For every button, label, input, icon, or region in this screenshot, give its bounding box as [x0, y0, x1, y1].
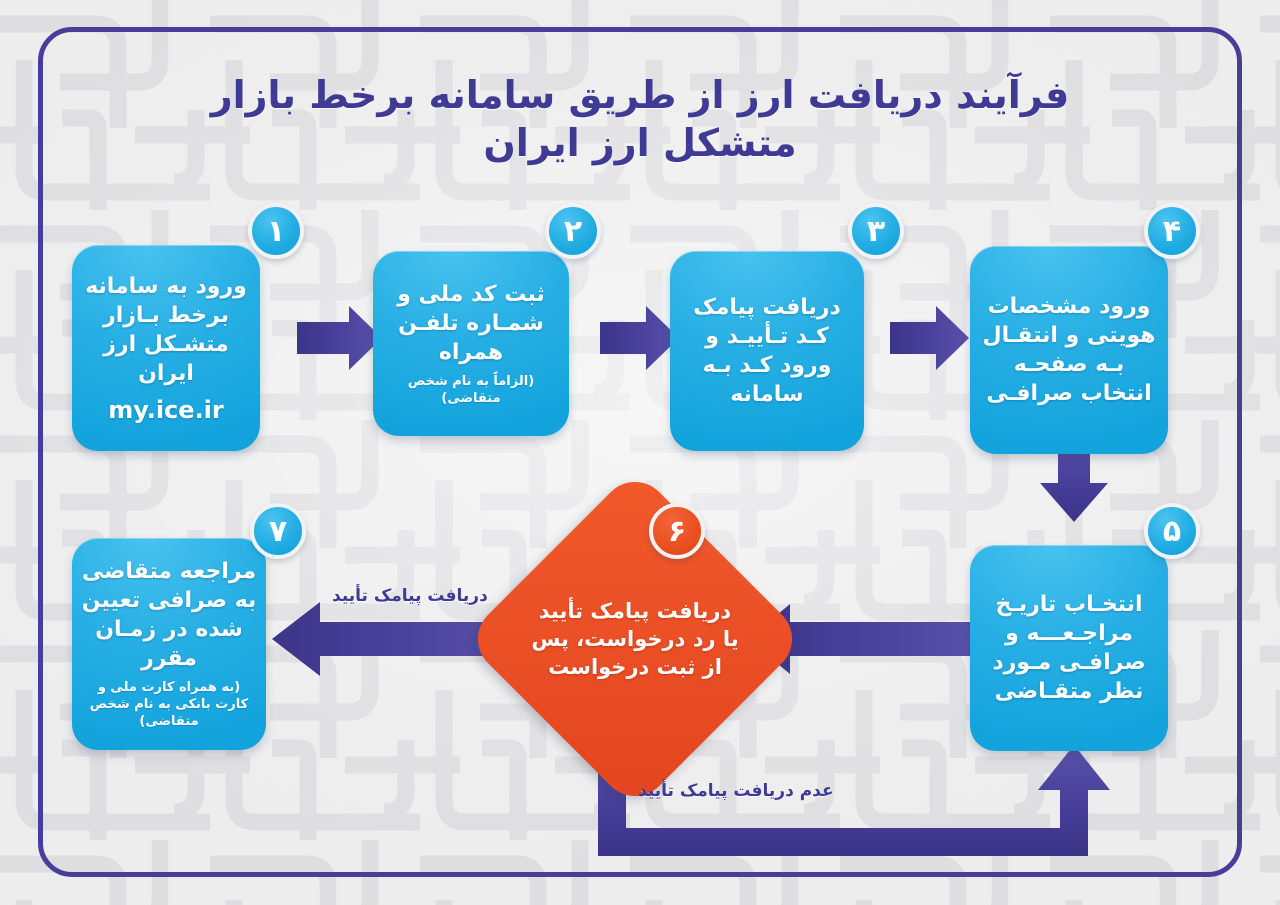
- step-badge-5: ۵: [1144, 503, 1200, 559]
- step-node-1[interactable]: ورود به سامانه برخط بـازار متشـکل ارز ای…: [88, 245, 260, 431]
- step-5-box: انتخـاب تاریـخ مراجـعـــه و صرافـی مـورد…: [970, 545, 1168, 751]
- arrow-step2-to-step3: [600, 306, 679, 370]
- step-node-3[interactable]: دریافت پیامک کـد تـأییـد و ورود کـد بـه …: [686, 251, 864, 431]
- step-7-box: مراجعه متقاضی به صرافی تعیین شده در زمـا…: [72, 538, 266, 750]
- step-4-main-text: ورود مشخصات هویتی و انتقـال بـه صفحـه ان…: [978, 292, 1160, 408]
- step-4-box: ورود مشخصات هویتی و انتقـال بـه صفحـه ان…: [970, 246, 1168, 454]
- step-7-sub-text: (به همراه کارت ملی و کارت بانکی به نام ش…: [80, 680, 258, 731]
- page-title: فرآیند دریافت ارز از طریق سامانه برخط با…: [0, 72, 1280, 167]
- edge-label-confirm-sms: دریافت پیامک تأیید: [332, 586, 488, 606]
- step-badge-1: ۱: [248, 203, 304, 259]
- step-badge-6: ۶: [649, 503, 705, 559]
- step-2-main-text: ثبت کد ملی و شمـاره تلفـن همراه: [381, 280, 561, 367]
- step-6-main-text: دریافت پیامک تأیید یا رد درخواست، پس از …: [514, 518, 756, 760]
- step-3-main-text: دریافت پیامک کـد تـأییـد و ورود کـد بـه …: [678, 293, 856, 409]
- step-node-6[interactable]: دریافت پیامک تأیید یا رد درخواست، پس از …: [514, 518, 756, 760]
- step-7-main-text: مراجعه متقاضی به صرافی تعیین شده در زمـا…: [80, 557, 258, 673]
- step-badge-7: ۷: [250, 503, 306, 559]
- step-node-5[interactable]: انتخـاب تاریـخ مراجـعـــه و صرافـی مـورد…: [986, 545, 1168, 731]
- arrow-step1-to-step2: [297, 306, 382, 370]
- step-2-box: ثبت کد ملی و شمـاره تلفـن همراه (الزاماً…: [373, 251, 569, 436]
- arrow-step3-to-step4: [890, 306, 969, 370]
- infographic-canvas: فرآیند دریافت ارز از طریق سامانه برخط با…: [0, 0, 1280, 905]
- step-badge-3: ۳: [848, 203, 904, 259]
- step-node-2[interactable]: ثبت کد ملی و شمـاره تلفـن همراه (الزاماً…: [389, 251, 569, 416]
- step-badge-4: ۴: [1144, 203, 1200, 259]
- step-3-box: دریافت پیامک کـد تـأییـد و ورود کـد بـه …: [670, 251, 864, 451]
- step-1-box: ورود به سامانه برخط بـازار متشـکل ارز ای…: [72, 245, 260, 451]
- edge-label-no-confirm-sms: عدم دریافت پیامک تأیید: [638, 781, 834, 801]
- step-2-sub-text: (الزاماً به نام شخص متقاضی): [381, 374, 561, 408]
- step-node-4[interactable]: ورود مشخصات هویتی و انتقـال بـه صفحـه ان…: [986, 246, 1168, 434]
- step-1-url-text: my.ice.ir: [108, 396, 223, 424]
- step-badge-2: ۲: [545, 203, 601, 259]
- step-1-main-text: ورود به سامانه برخط بـازار متشـکل ارز ای…: [80, 272, 252, 388]
- step-node-7[interactable]: مراجعه متقاضی به صرافی تعیین شده در زمـا…: [88, 538, 266, 730]
- step-5-main-text: انتخـاب تاریـخ مراجـعـــه و صرافـی مـورد…: [978, 590, 1160, 706]
